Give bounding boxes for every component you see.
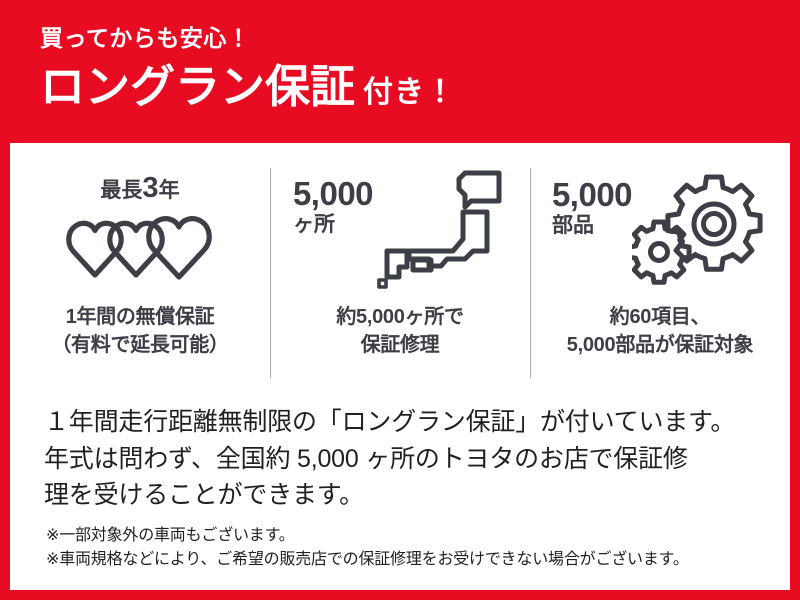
japan-map-icon bbox=[375, 167, 507, 291]
headline-number: 3 bbox=[142, 172, 158, 204]
header-band: 買ってからも安心！ ロングラン保証 付き！ bbox=[0, 0, 800, 143]
feature-columns: 最長3年 1年間の無償保証 （有料で延長可能） bbox=[10, 152, 790, 392]
caption-line-1: 1年間の無償保証 bbox=[51, 304, 228, 332]
feature-covered-parts: 5,000 部品 bbox=[530, 152, 790, 392]
feature-caption-covered-parts: 約60項目、 5,000部品が保証対象 bbox=[567, 304, 753, 359]
headline-number: 5,000 bbox=[293, 175, 373, 212]
body-line-1: １年間走行距離無制限の「ロングラン保証」が付いています。 bbox=[44, 404, 766, 441]
header-title-main: ロングラン保証 bbox=[40, 63, 355, 110]
body-line-3: 理を受けることができます。 bbox=[44, 477, 766, 514]
feature-warranty-term: 最長3年 1年間の無償保証 （有料で延長可能） bbox=[10, 152, 270, 392]
headline-unit: 年 bbox=[159, 179, 180, 202]
footnotes: ※一部対象外の車両もございます。 ※車両規格などにより、ご希望の販売店での保証修… bbox=[46, 524, 774, 572]
body-line-2: 年式は問わず、全国約 5,000 ヶ所のトヨタのお店で保証修 bbox=[44, 441, 766, 478]
footnote-line-2: ※車両規格などにより、ご希望の販売店での保証修理をお受けできない場合がございます… bbox=[46, 548, 774, 572]
caption-line-2: （有料で延長可能） bbox=[51, 332, 228, 360]
feature-graphic-warranty-term: 最長3年 bbox=[10, 152, 270, 302]
headline-kanji: 最長 bbox=[100, 179, 142, 202]
feature-headline-covered-parts: 5,000 部品 bbox=[552, 170, 632, 236]
feature-caption-warranty-term: 1年間の無償保証 （有料で延長可能） bbox=[51, 304, 228, 359]
feature-headline-warranty-term: 最長3年 bbox=[100, 174, 179, 203]
feature-graphic-covered-parts: 5,000 部品 bbox=[530, 152, 790, 302]
feature-service-locations: 5,000 ヶ所 bbox=[270, 152, 530, 392]
header-kicker: 買ってからも安心！ bbox=[40, 26, 800, 51]
caption-line-2: 5,000部品が保証対象 bbox=[567, 332, 753, 360]
headline-unit: 部品 bbox=[552, 215, 632, 236]
long-run-warranty-ad: 買ってからも安心！ ロングラン保証 付き！ 最長3年 bbox=[0, 0, 800, 600]
headline-number: 5,000 bbox=[552, 176, 632, 213]
header-title-suffix: 付き！ bbox=[363, 77, 456, 109]
caption-line-1: 約60項目、 bbox=[567, 304, 753, 332]
gears-icon bbox=[632, 170, 768, 288]
feature-caption-service-locations: 約5,000ヶ所で 保証修理 bbox=[336, 304, 463, 359]
feature-graphic-service-locations: 5,000 ヶ所 bbox=[270, 152, 530, 302]
headline-unit: ヶ所 bbox=[293, 214, 373, 235]
caption-line-1: 約5,000ヶ所で bbox=[336, 304, 463, 332]
three-hearts-icon bbox=[64, 209, 216, 281]
caption-line-2: 保証修理 bbox=[336, 332, 463, 360]
body-copy: １年間走行距離無制限の「ロングラン保証」が付いています。 年式は問わず、全国約 … bbox=[44, 404, 766, 514]
header-title: ロングラン保証 付き！ bbox=[40, 63, 800, 110]
feature-headline-service-locations: 5,000 ヶ所 bbox=[293, 167, 373, 235]
footnote-line-1: ※一部対象外の車両もございます。 bbox=[46, 524, 774, 548]
